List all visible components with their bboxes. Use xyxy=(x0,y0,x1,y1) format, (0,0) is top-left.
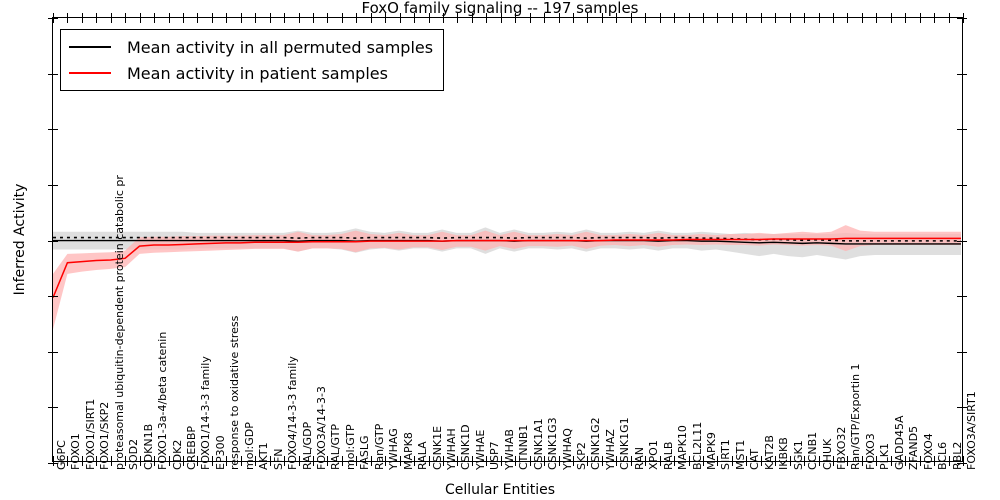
x-tick-label: MAPK9 xyxy=(706,432,717,470)
x-tick-label: FBXO32 xyxy=(836,427,847,470)
x-tick-label: SFN xyxy=(273,448,284,470)
x-tick-label: mol:GDP xyxy=(244,422,255,470)
x-tick-label: BCL2L11 xyxy=(692,422,703,470)
legend-item-permuted: Mean activity in all permuted samples xyxy=(69,34,433,60)
x-tick-label: FOXO1/14-3-3 family xyxy=(200,356,211,470)
x-tick-label: XPO1 xyxy=(648,440,659,470)
x-tick-label: FOXO1/SKP2 xyxy=(99,402,110,470)
x-tick-label: YWHAZ xyxy=(605,429,616,470)
x-tick-label: FOXO4 xyxy=(923,433,934,470)
x-tick-label: MST1 xyxy=(735,440,746,470)
x-axis-title: Cellular Entities xyxy=(0,482,1000,498)
x-tick-label: PLK1 xyxy=(879,443,890,470)
x-tick-label: FOXO1 xyxy=(70,433,81,470)
x-tick-label: FASLG xyxy=(359,436,370,470)
x-tick-label: FOXO1-3a-4/beta catenin xyxy=(157,332,168,470)
x-tick-label: YWHAB xyxy=(504,429,515,470)
x-tick-label: SIRT1 xyxy=(720,439,731,470)
x-tick-label: RALB xyxy=(663,442,674,470)
x-tick-label: USP7 xyxy=(489,441,500,470)
legend-label-patient: Mean activity in patient samples xyxy=(127,64,388,83)
x-tick-label: YWHAQ xyxy=(562,428,573,470)
legend-swatch-patient xyxy=(69,72,111,74)
x-tick-label: SGK1 xyxy=(793,440,804,470)
x-tick-label: CSNK1D xyxy=(460,424,471,470)
x-tick-label: CHUK xyxy=(822,439,833,470)
x-tick-label: CAT xyxy=(749,449,760,470)
x-tick-label: RAL/GTP xyxy=(330,424,341,470)
x-tick-label: IKBKB xyxy=(778,437,789,470)
x-tick-label: response to oxidative stress xyxy=(229,316,240,470)
x-tick-label: RALA xyxy=(417,441,428,470)
x-tick-label: CSNK1G3 xyxy=(547,417,558,470)
x-tick-label: Ran/GTP/Exportin 1 xyxy=(850,363,861,470)
x-tick-label: CDKN1B xyxy=(143,424,154,470)
x-tick-label: FOXO1/SIRT1 xyxy=(85,399,96,470)
x-tick-label: RAL/GDP xyxy=(302,422,313,470)
x-tick-label: CREBBP xyxy=(186,426,197,470)
legend-label-permuted: Mean activity in all permuted samples xyxy=(127,38,433,57)
x-tick-mark xyxy=(963,18,964,23)
x-tick-label: RBL2 xyxy=(952,442,963,470)
x-tick-label: ZFAND5 xyxy=(908,426,919,470)
x-tick-label: EP300 xyxy=(215,435,226,470)
x-tick-label: YWHAE xyxy=(475,430,486,470)
x-tick-label: CSNK1E xyxy=(432,426,443,470)
x-tick-label: SOD2 xyxy=(128,439,139,470)
chart-root: FoxO family signaling -- 197 samples Inf… xyxy=(0,0,1000,500)
x-tick-label: MAPK10 xyxy=(677,425,688,470)
y-axis-title: Inferred Activity xyxy=(12,17,28,462)
x-tick-label: proteasomal ubiquitin-dependent protein … xyxy=(114,175,125,470)
legend-swatch-permuted xyxy=(69,46,111,48)
x-tick-label: mol:GTP xyxy=(345,424,356,470)
x-tick-label: FOXO4/14-3-3 family xyxy=(287,356,298,470)
x-tick-label: SKP2 xyxy=(576,442,587,470)
x-tick-label: CDK2 xyxy=(172,440,183,470)
x-tick-label: AKT1 xyxy=(258,442,269,470)
x-tick-label: YWHAG xyxy=(388,428,399,470)
legend: Mean activity in all permuted samples Me… xyxy=(60,29,444,91)
x-tick-label: CCNB1 xyxy=(807,432,818,470)
x-tick-label: YWHAH xyxy=(446,428,457,470)
x-tick-label: FOXO3A/14-3-3 xyxy=(316,386,327,470)
legend-item-patient: Mean activity in patient samples xyxy=(69,60,433,86)
x-tick-label: BCL6 xyxy=(937,442,948,470)
x-tick-label: CTNNB1 xyxy=(518,425,529,470)
x-tick-label: CSNK1A1 xyxy=(533,418,544,470)
x-tick-label: CSNK1G1 xyxy=(619,417,630,470)
x-tick-label: RAN xyxy=(634,447,645,470)
x-tick-label: Ran/GTP xyxy=(374,424,385,470)
x-tick-label: GADD45A xyxy=(894,415,905,470)
x-tick-label: FOXO3A/SIRT1 xyxy=(966,391,977,470)
x-tick-label: MAPK8 xyxy=(403,432,414,470)
x-tick-label: CSNK1G2 xyxy=(590,417,601,470)
x-tick-label: G6PC xyxy=(56,440,67,470)
x-tick-label: FOXO3 xyxy=(865,433,876,470)
x-tick-label: KAT2B xyxy=(764,435,775,470)
